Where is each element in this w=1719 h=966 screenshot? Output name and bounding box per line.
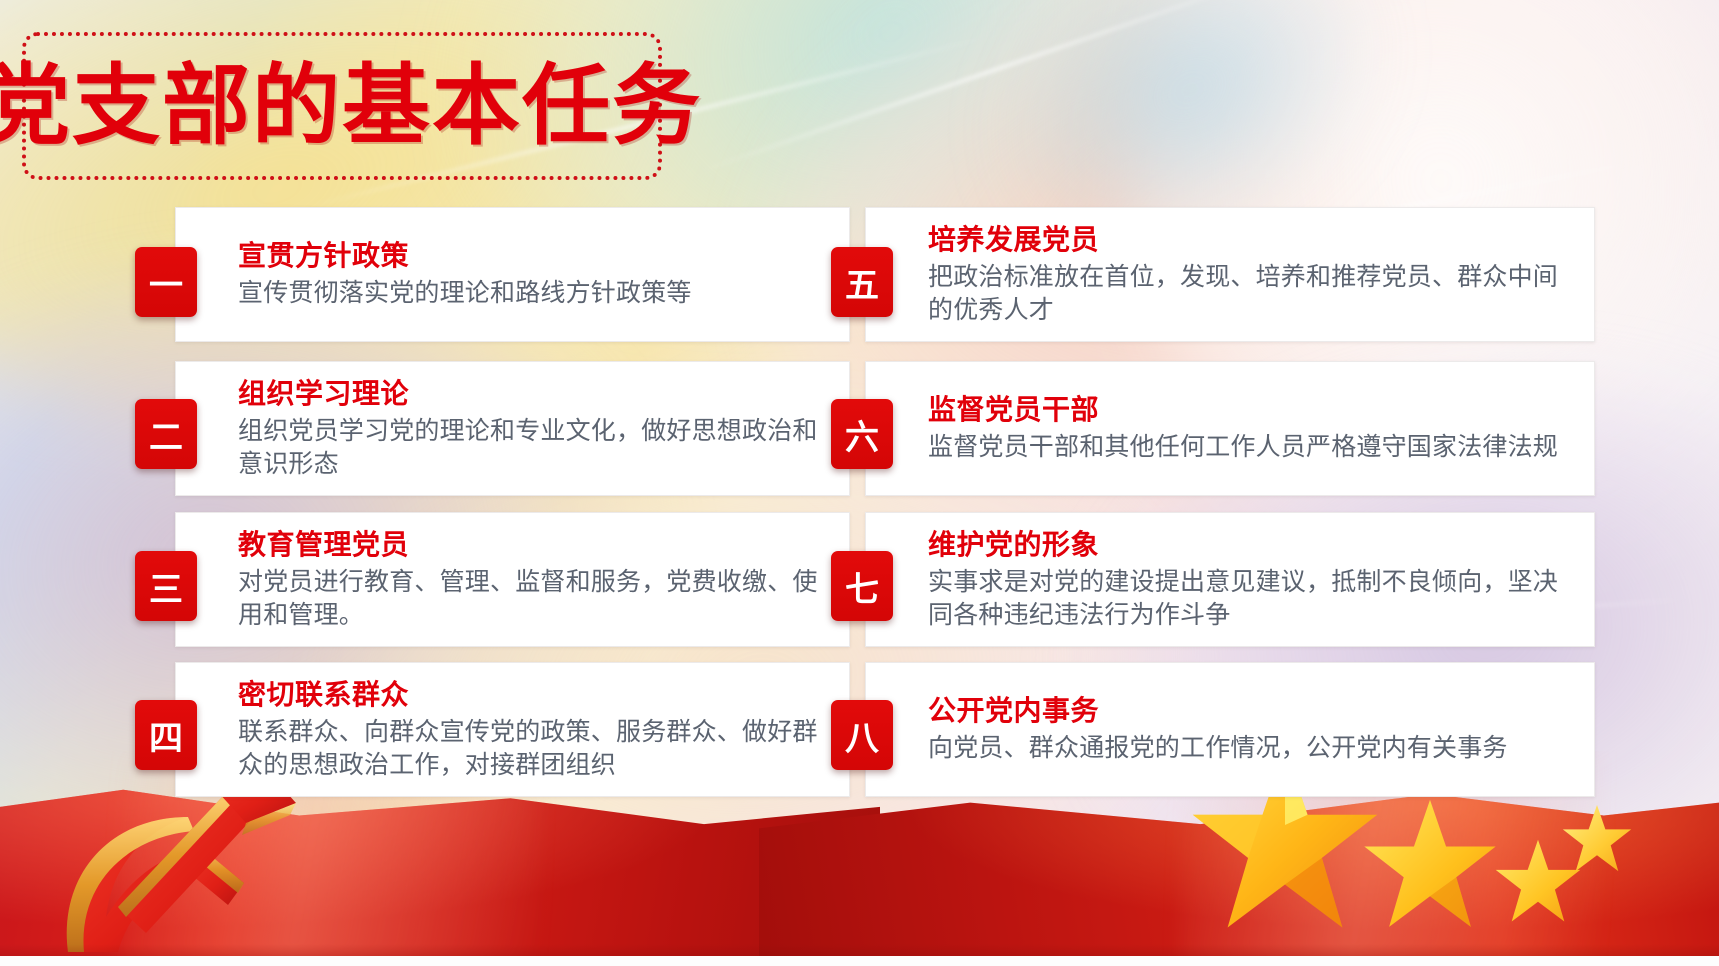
task-card-2[interactable]: 组织学习理论 组织党员学习党的理论和专业文化，做好思想政治和意识形态 <box>175 361 850 496</box>
task-card-4-desc: 联系群众、向群众宣传党的政策、服务群众、做好群众的思想政治工作，对接群团组织 <box>238 715 835 782</box>
task-card-1-title: 宣贯方针政策 <box>238 239 835 272</box>
slide-canvas: 党支部的基本任务 宣贯方针政策 宣传贯彻落实党的理论和路线方针政策等 一 组织学… <box>0 0 1719 966</box>
task-card-7-desc: 实事求是对党的建设提出意见建议，抵制不良倾向，坚决同各种违纪违法行为作斗争 <box>928 565 1580 632</box>
task-card-2-title: 组织学习理论 <box>238 377 835 410</box>
task-card-4[interactable]: 密切联系群众 联系群众、向群众宣传党的政策、服务群众、做好群众的思想政治工作，对… <box>175 662 850 797</box>
task-card-7-badge: 七 <box>831 551 893 621</box>
gold-star-tiny <box>1558 802 1636 878</box>
task-card-5-badge: 五 <box>831 247 893 317</box>
task-card-5-desc: 把政治标准放在首位，发现、培养和推荐党员、群众中间的优秀人才 <box>928 260 1580 327</box>
task-card-3-badge: 三 <box>135 551 197 621</box>
page-title: 党支部的基本任务 <box>0 62 702 150</box>
task-card-6[interactable]: 监督党员干部 监督党员干部和其他任何工作人员严格遵守国家法律法规 <box>865 361 1595 496</box>
task-card-1-badge: 一 <box>135 247 197 317</box>
task-card-6-desc: 监督党员干部和其他任何工作人员严格遵守国家法律法规 <box>928 430 1580 463</box>
task-card-3-desc: 对党员进行教育、管理、监督和服务，党费收缴、使用和管理。 <box>238 565 835 632</box>
task-card-6-badge: 六 <box>831 399 893 469</box>
task-card-2-desc: 组织党员学习党的理论和专业文化，做好思想政治和意识形态 <box>238 414 835 481</box>
task-card-6-title: 监督党员干部 <box>928 393 1580 426</box>
slide-bottom-edge <box>0 956 1719 966</box>
task-card-4-badge: 四 <box>135 700 197 770</box>
task-card-8-desc: 向党员、群众通报党的工作情况，公开党内有关事务 <box>928 731 1580 764</box>
page-title-box: 党支部的基本任务 <box>22 32 662 180</box>
task-card-2-badge: 二 <box>135 399 197 469</box>
task-card-8[interactable]: 公开党内事务 向党员、群众通报党的工作情况，公开党内有关事务 <box>865 662 1595 797</box>
task-card-5-title: 培养发展党员 <box>928 223 1580 256</box>
task-card-7-title: 维护党的形象 <box>928 528 1580 561</box>
task-card-7[interactable]: 维护党的形象 实事求是对党的建设提出意见建议，抵制不良倾向，坚决同各种违纪违法行… <box>865 512 1595 647</box>
task-card-8-badge: 八 <box>831 700 893 770</box>
gold-star-medium <box>1355 794 1505 940</box>
task-card-8-title: 公开党内事务 <box>928 694 1580 727</box>
task-card-4-title: 密切联系群众 <box>238 678 835 711</box>
task-card-1[interactable]: 宣贯方针政策 宣传贯彻落实党的理论和路线方针政策等 <box>175 207 850 342</box>
task-card-5[interactable]: 培养发展党员 把政治标准放在首位，发现、培养和推荐党员、群众中间的优秀人才 <box>865 207 1595 342</box>
task-card-1-desc: 宣传贯彻落实党的理论和路线方针政策等 <box>238 276 835 309</box>
task-card-3-title: 教育管理党员 <box>238 528 835 561</box>
task-card-3[interactable]: 教育管理党员 对党员进行教育、管理、监督和服务，党费收缴、使用和管理。 <box>175 512 850 647</box>
